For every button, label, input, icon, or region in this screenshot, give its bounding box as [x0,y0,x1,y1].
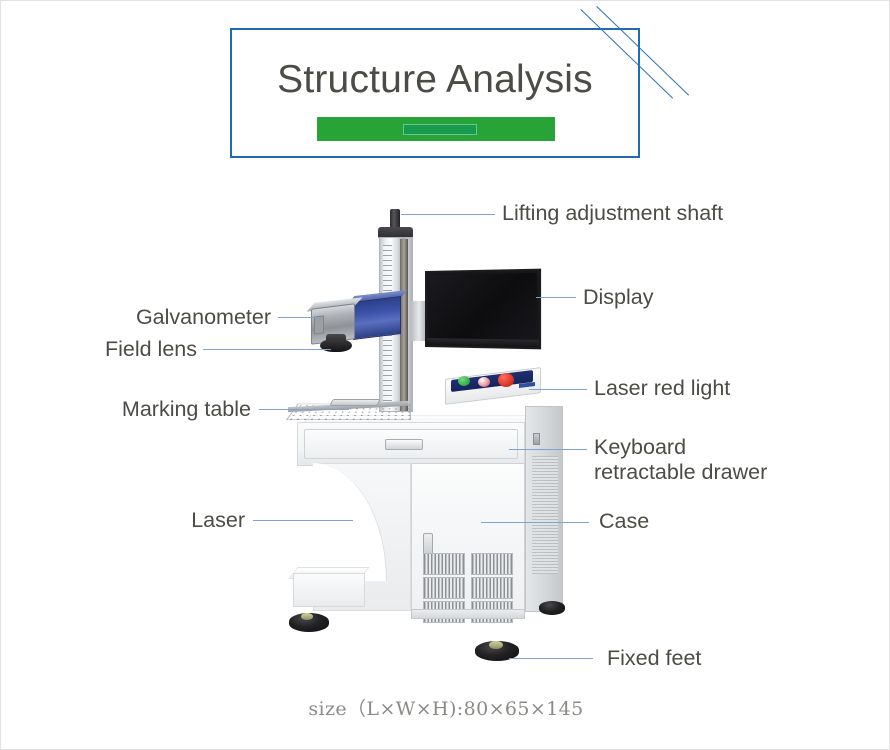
lifting-shaft-knob [390,209,400,229]
cabinet-base-plinth [411,609,525,619]
label-fixed-feet: Fixed feet [607,645,701,671]
label-marking-table: Marking table [27,396,251,422]
label-keyboard-retractable-drawer: Keyboard retractable drawer [594,435,824,485]
leader-line-keyboard-retractable-drawer [509,449,587,450]
leader-line-lifting-adjustment-shaft [401,214,495,215]
label-keyboard-retractable-drawer-line2: retractable drawer [594,460,767,484]
field-lens [320,339,352,352]
cabinet-vent-grille [423,577,465,599]
cabinet-side-latch [533,433,540,445]
leader-line-laser [253,520,353,521]
leader-line-fixed-feet [509,658,593,659]
leader-line-galvanometer [278,317,318,318]
marking-table-slot [329,399,380,406]
label-display: Display [583,284,654,310]
label-galvanometer: Galvanometer [49,304,271,330]
cabinet-vent-grille [423,553,465,575]
machine-illustration [1,1,890,750]
power-on-button[interactable] [458,376,470,386]
leader-line-field-lens [203,349,331,350]
column-guide-rail [400,239,408,411]
leader-line-display [536,297,576,298]
monitor-bezel-bottom [427,338,539,347]
cabinet-vent-grille [471,553,513,575]
leader-line-case [481,522,589,523]
fixed-foot-bolt [489,641,503,649]
label-laser: Laser [59,507,245,533]
leader-line-laser-red-light [529,389,587,390]
laser-source-body [353,296,401,340]
emergency-stop-button[interactable] [498,373,514,387]
label-keyboard-retractable-drawer-line1: Keyboard [594,435,686,459]
cabinet-side-vent [532,456,558,574]
label-case: Case [599,508,649,534]
label-lifting-adjustment-shaft: Lifting adjustment shaft [502,200,723,226]
galvanometer-aperture [314,315,324,334]
laser-red-light-button[interactable] [478,377,490,387]
fixed-foot [539,601,565,615]
base-step-block [293,573,365,607]
label-laser-red-light: Laser red light [594,375,730,401]
display-monitor [425,269,541,350]
diagram-page: Structure Analysis [0,0,890,750]
leader-line-marking-table [259,409,349,410]
fixed-foot-bolt [301,613,313,620]
label-field-lens: Field lens [1,336,197,362]
keyboard-drawer-handle[interactable] [385,439,423,450]
size-caption: size（L×W×H):80×65×145 [1,694,890,721]
monitor-screen [429,273,537,340]
cabinet-vent-grille [471,577,513,599]
